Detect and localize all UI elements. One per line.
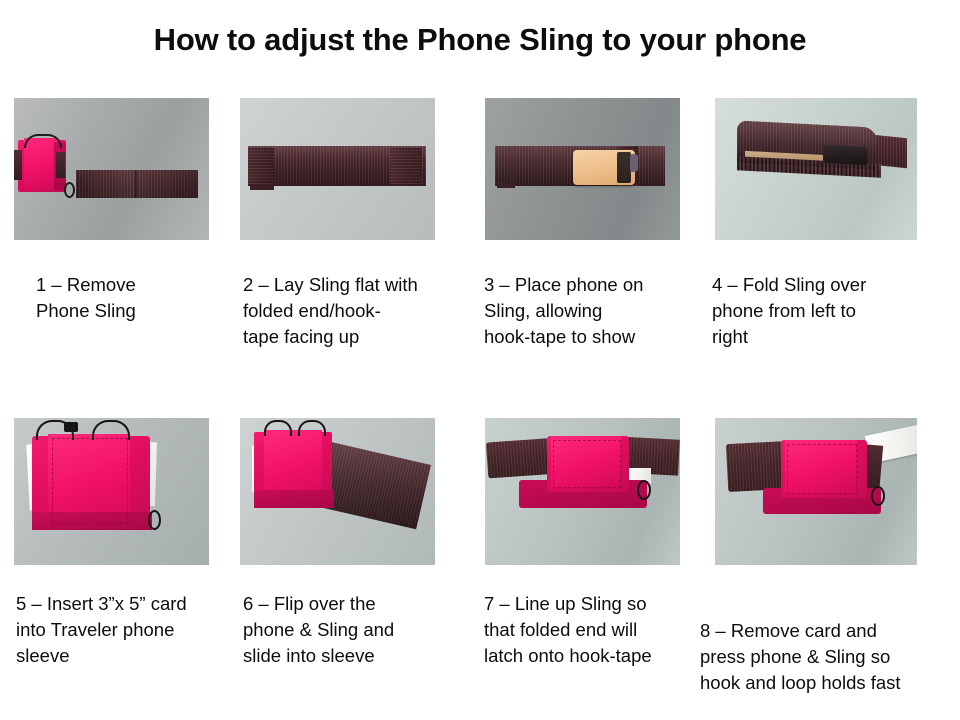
- photo-step-8-remove-card-and-press: [715, 418, 917, 565]
- caption-step-4: 4 – Fold Sling over phone from left to r…: [712, 272, 912, 350]
- photo-step-5-insert-card: [14, 418, 209, 565]
- caption-step-8: 8 – Remove card and press phone & Sling …: [700, 618, 950, 696]
- photo-step-1-remove-phone-sling: [14, 98, 209, 240]
- caption-step-7: 7 – Line up Sling so that folded end wil…: [484, 591, 694, 669]
- photo-step-3-place-phone-on-sling: [485, 98, 680, 240]
- caption-step-1: 1 – Remove Phone Sling: [36, 272, 211, 324]
- photo-step-6-flip-and-slide: [240, 418, 435, 565]
- caption-step-6: 6 – Flip over the phone & Sling and slid…: [243, 591, 443, 669]
- caption-step-5: 5 – Insert 3”x 5” card into Traveler pho…: [16, 591, 231, 669]
- caption-step-2: 2 – Lay Sling flat with folded end/hook-…: [243, 272, 443, 350]
- caption-step-3: 3 – Place phone on Sling, allowing hook-…: [484, 272, 684, 350]
- photo-step-2-lay-sling-flat: [240, 98, 435, 240]
- page-title: How to adjust the Phone Sling to your ph…: [0, 22, 960, 58]
- photo-step-4-fold-sling-over-phone: [715, 98, 917, 240]
- photo-step-7-line-up-sling: [485, 418, 680, 565]
